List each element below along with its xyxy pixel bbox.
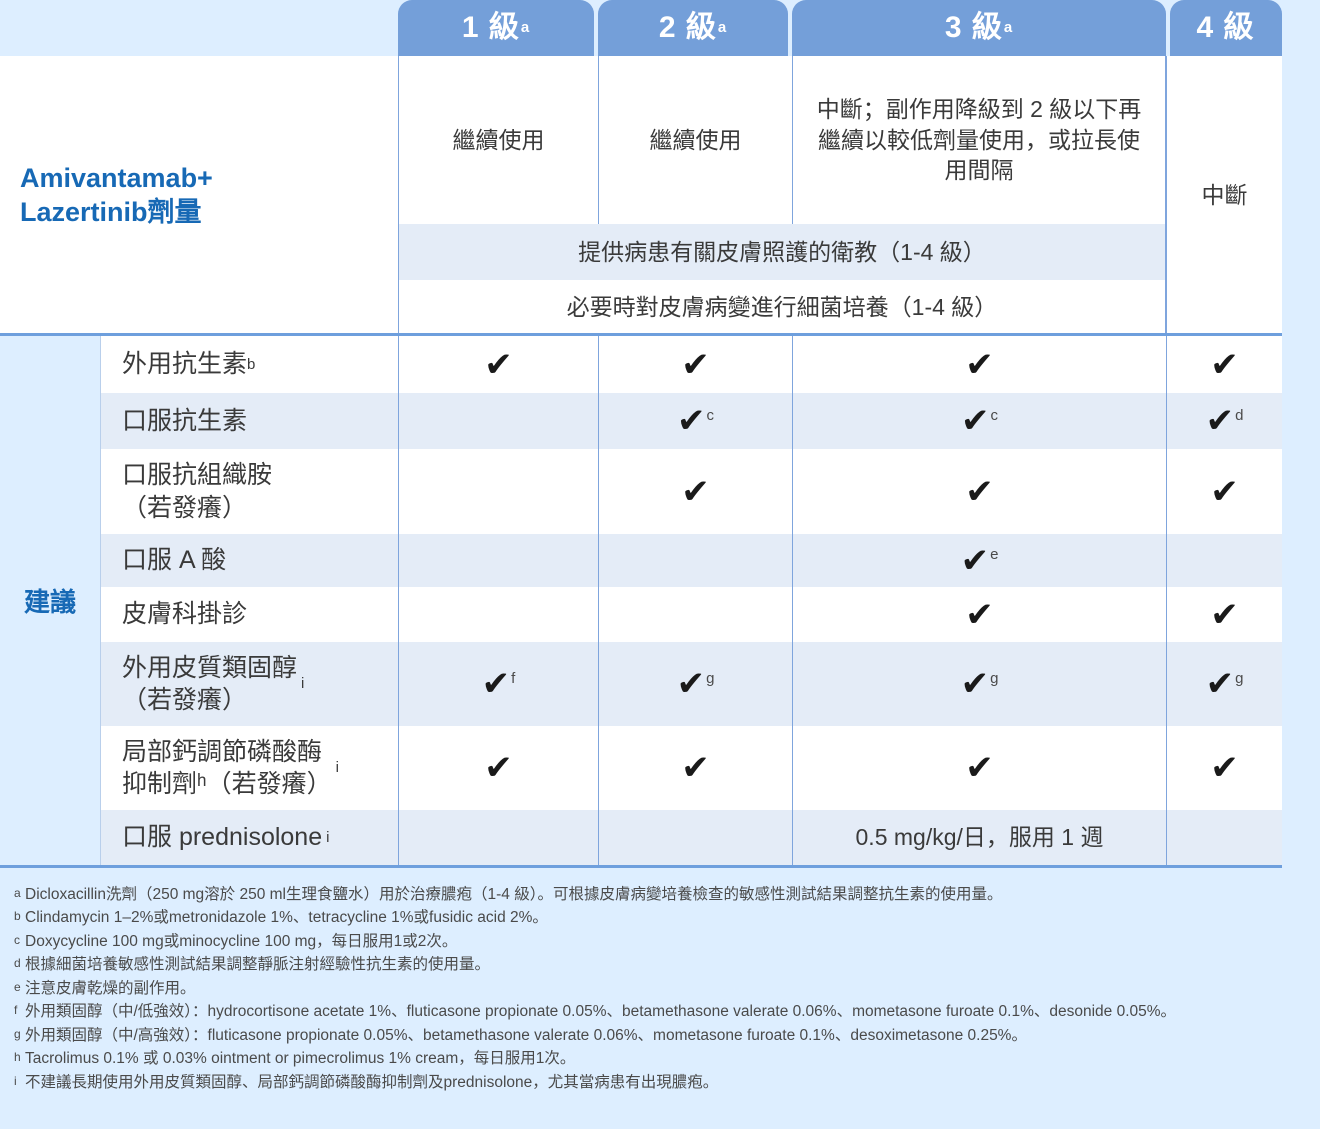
cell-oral-antibiotic-g4: ✔d <box>1166 393 1282 449</box>
dose-title-line-1: Amivantamab+ <box>20 162 213 196</box>
cell-topical-corticosteroid-g2: ✔g <box>598 642 792 726</box>
footnote-i-text: 不建議長期使用外用皮質類固醇、局部鈣調節磷酸酶抑制劑及prednisolone，… <box>25 1072 1306 1094</box>
checkmark-icon: ✔f <box>482 667 516 701</box>
checkmark-icon: ✔ <box>965 751 994 785</box>
footnote-f-text: 外用類固醇（中/低強效）：hydrocortisone acetate 1%、f… <box>25 1001 1306 1023</box>
footnote-g-text: 外用類固醇（中/高強效）：fluticasone propionate 0.05… <box>25 1025 1306 1047</box>
checkmark-icon: ✔d <box>1206 404 1244 438</box>
checkmark-icon: ✔ <box>965 598 994 632</box>
section-label-recommendation: 建議 <box>0 580 100 624</box>
footnote-e-marker: e <box>14 978 25 996</box>
footnote-d-marker: d <box>14 954 25 972</box>
checkmark-footnote-sup: g <box>706 670 714 687</box>
checkmark-footnote-sup: g <box>990 670 998 687</box>
checkmark-icon: ✔c <box>961 404 998 438</box>
cell-topical-antibiotic-g1: ✔ <box>398 336 598 393</box>
footnote-h-text: Tacrolimus 0.1% 或 0.03% ointment or pime… <box>25 1048 1306 1070</box>
footnote-h: hTacrolimus 0.1% 或 0.03% ointment or pim… <box>14 1048 1306 1070</box>
row-label-oral-prednisolone-text: 口服 prednisolone <box>122 821 322 854</box>
checkmark-footnote-sup: c <box>707 407 715 424</box>
row-label-topical-corticosteroid-text: 外用皮質類固醇 （若發癢） <box>122 652 297 717</box>
checkmark-footnote-sup: d <box>1235 407 1243 424</box>
row-header-amivantamab-dose: Amivantamab+ Lazertinib劑量 <box>0 56 398 335</box>
checkmark-icon: ✔ <box>484 751 513 785</box>
footnote-g-marker: g <box>14 1025 25 1043</box>
row-label-oral-antibiotic: 口服抗生素 <box>100 393 398 449</box>
cell-topical-antibiotic-g3: ✔ <box>792 336 1166 393</box>
dose-title-line-2: Lazertinib劑量 <box>20 196 202 230</box>
footnote-i: i不建議長期使用外用皮質類固醇、局部鈣調節磷酸酶抑制劑及prednisolone… <box>14 1072 1306 1094</box>
cell-topical-corticosteroid-g1: ✔f <box>398 642 598 726</box>
cell-oral-prednisolone-g1 <box>398 810 598 865</box>
row-label-oral-antihistamine: 口服抗組織胺 （若發癢） <box>100 449 398 534</box>
cell-oral-antihistamine-g3: ✔ <box>792 449 1166 534</box>
checkmark-icon: ✔g <box>1206 667 1244 701</box>
cell-oral-antibiotic-g3: ✔c <box>792 393 1166 449</box>
row-label-calcineurin-inhibitor: 局部鈣調節磷酸酶 抑制劑ʰ（若發癢）i <box>100 726 398 810</box>
cell-oral-prednisolone-g3: 0.5 mg/kg/日，服用 1 週 <box>792 810 1166 865</box>
footnotes-block: aDicloxacillin洗劑（250 mg溶於 250 ml生理食鹽水）用於… <box>0 884 1320 1095</box>
footnote-b: bClindamycin 1–2%或metronidazole 1%、tetra… <box>14 907 1306 929</box>
footnote-e-text: 注意皮膚乾燥的副作用。 <box>25 978 1306 1000</box>
cell-oral-antibiotic-g2: ✔c <box>598 393 792 449</box>
footnote-d-text: 根據細菌培養敏感性測試結果調整靜脈注射經驗性抗生素的使用量。 <box>25 954 1306 976</box>
footnote-b-marker: b <box>14 907 25 925</box>
cell-dermatology-referral-g3: ✔ <box>792 587 1166 642</box>
row-label-topical-corticosteroid: 外用皮質類固醇 （若發癢）i <box>100 642 398 726</box>
checkmark-footnote-sup: c <box>991 407 999 424</box>
checkmark-icon: ✔ <box>965 348 994 382</box>
checkmark-icon: ✔ <box>1210 751 1239 785</box>
cell-oral-antihistamine-g2: ✔ <box>598 449 792 534</box>
row-label-dermatology-referral: 皮膚科掛診 <box>100 587 398 642</box>
footnote-c: cDoxycycline 100 mg或minocycline 100 mg，每… <box>14 931 1306 953</box>
checkmark-icon: ✔g <box>677 667 715 701</box>
table-grid: Amivantamab+ Lazertinib劑量 繼續使用 繼續使用 中斷；副… <box>0 0 1320 868</box>
checkmark-icon: ✔ <box>965 475 994 509</box>
row-label-oral-prednisolone: 口服 prednisolonei <box>100 810 398 865</box>
cell-oral-retinoid-g4 <box>1166 534 1282 587</box>
checkmark-icon: ✔ <box>1210 598 1239 632</box>
cell-calcineurin-inhibitor-g1: ✔ <box>398 726 598 810</box>
checkmark-icon: ✔c <box>677 404 714 438</box>
footnote-f-marker: f <box>14 1001 25 1019</box>
footnote-g: g外用類固醇（中/高強效）：fluticasone propionate 0.0… <box>14 1025 1306 1047</box>
footnote-i-marker: i <box>14 1072 25 1090</box>
treatment-guideline-table: 1 級a 2 級a 3 級a 4 級 Amivantamab+ Lazertin… <box>0 0 1320 1129</box>
cell-topical-antibiotic-g2: ✔ <box>598 336 792 393</box>
checkmark-icon: ✔ <box>681 751 710 785</box>
cell-oral-retinoid-g1 <box>398 534 598 587</box>
footnote-c-marker: c <box>14 931 25 949</box>
row-label-topical-antibiotic-text: 外用抗生素 <box>122 348 247 381</box>
dose-cell-grade-3: 中斷；副作用降級到 2 級以下再繼續以較低劑量使用，或拉長使用間隔 <box>792 56 1166 224</box>
footnote-c-text: Doxycycline 100 mg或minocycline 100 mg，每日… <box>25 931 1306 953</box>
footnote-f: f外用類固醇（中/低強效）：hydrocortisone acetate 1%、… <box>14 1001 1306 1023</box>
merged-row-bacterial-culture: 必要時對皮膚病變進行細菌培養（1-4 級） <box>398 280 1166 335</box>
footnote-e: e注意皮膚乾燥的副作用。 <box>14 978 1306 1000</box>
recommendation-column-divider <box>100 336 101 865</box>
footnote-b-text: Clindamycin 1–2%或metronidazole 1%、tetrac… <box>25 907 1306 929</box>
checkmark-icon: ✔e <box>961 544 999 578</box>
row-label-oral-retinoid: 口服 A 酸 <box>100 534 398 587</box>
cell-topical-antibiotic-g4: ✔ <box>1166 336 1282 393</box>
row-label-oral-antibiotic-text: 口服抗生素 <box>122 405 247 438</box>
footnote-a: aDicloxacillin洗劑（250 mg溶於 250 ml生理食鹽水）用於… <box>14 884 1306 906</box>
checkmark-icon: ✔ <box>681 475 710 509</box>
cell-oral-prednisolone-g2 <box>598 810 792 865</box>
merged-row-skin-care-education: 提供病患有關皮膚照護的衛教（1-4 級） <box>398 224 1166 280</box>
cell-oral-retinoid-g3: ✔e <box>792 534 1166 587</box>
footnote-a-text: Dicloxacillin洗劑（250 mg溶於 250 ml生理食鹽水）用於治… <box>25 884 1306 906</box>
row-label-topical-antibiotic: 外用抗生素b <box>100 336 398 393</box>
dose-cell-grade-4: 中斷 <box>1166 56 1282 335</box>
cell-calcineurin-inhibitor-g3: ✔ <box>792 726 1166 810</box>
row-label-calcineurin-inhibitor-text: 局部鈣調節磷酸酶 抑制劑ʰ（若發癢） <box>122 736 332 801</box>
checkmark-icon: ✔ <box>1210 348 1239 382</box>
dose-cell-grade-2: 繼續使用 <box>598 56 792 224</box>
checkmark-icon: ✔ <box>681 348 710 382</box>
cell-oral-retinoid-g2 <box>598 534 792 587</box>
cell-oral-prednisolone-g4 <box>1166 810 1282 865</box>
cell-topical-corticosteroid-g3: ✔g <box>792 642 1166 726</box>
checkmark-icon: ✔ <box>1210 475 1239 509</box>
checkmark-icon: ✔ <box>484 348 513 382</box>
footnote-d: d根據細菌培養敏感性測試結果調整靜脈注射經驗性抗生素的使用量。 <box>14 954 1306 976</box>
footnote-a-marker: a <box>14 884 25 902</box>
footnote-h-marker: h <box>14 1048 25 1066</box>
cell-calcineurin-inhibitor-g4: ✔ <box>1166 726 1282 810</box>
cell-dermatology-referral-g1 <box>398 587 598 642</box>
checkmark-footnote-sup: f <box>511 670 515 687</box>
cell-calcineurin-inhibitor-g2: ✔ <box>598 726 792 810</box>
cell-topical-corticosteroid-g4: ✔g <box>1166 642 1282 726</box>
checkmark-footnote-sup: e <box>990 546 998 563</box>
checkmark-footnote-sup: g <box>1235 670 1243 687</box>
section-divider-bottom <box>0 865 1282 868</box>
checkmark-icon: ✔g <box>961 667 999 701</box>
dose-cell-grade-1: 繼續使用 <box>398 56 598 224</box>
cell-dermatology-referral-g4: ✔ <box>1166 587 1282 642</box>
cell-oral-antihistamine-g1 <box>398 449 598 534</box>
cell-dermatology-referral-g2 <box>598 587 792 642</box>
cell-oral-antihistamine-g4: ✔ <box>1166 449 1282 534</box>
cell-oral-antibiotic-g1 <box>398 393 598 449</box>
